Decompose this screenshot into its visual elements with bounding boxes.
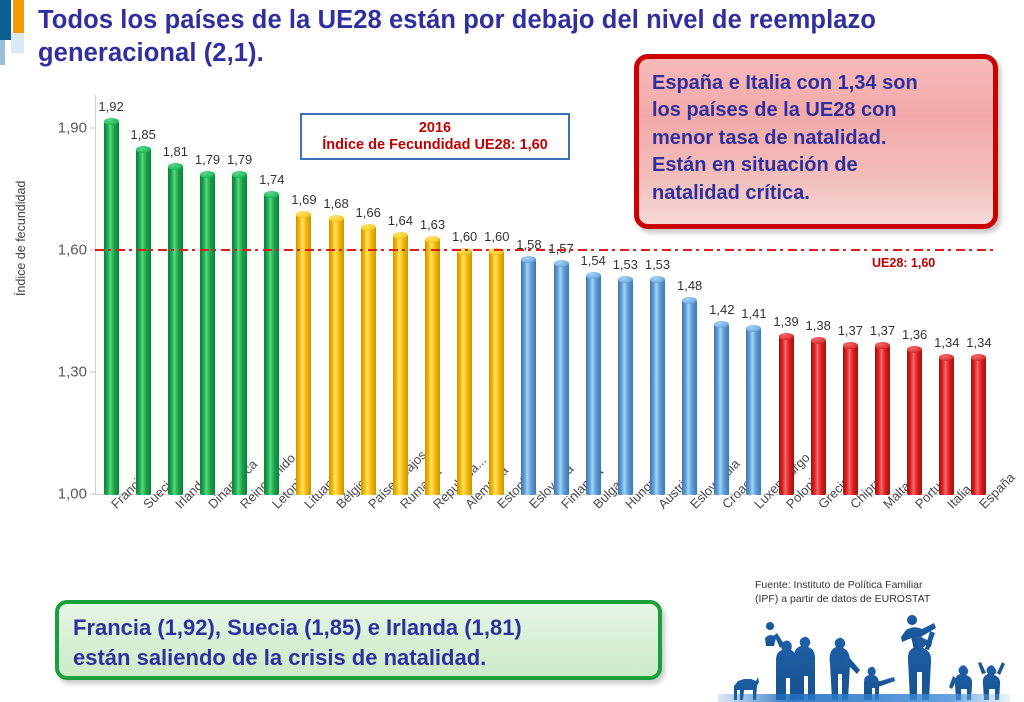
- bar-francia: [104, 121, 119, 495]
- bar-value-label: 1,74: [259, 172, 284, 187]
- y-axis-tick-mark: [90, 128, 95, 129]
- y-axis-tick-label: 1,30: [58, 364, 87, 381]
- y-axis-tick-label: 1,60: [58, 242, 87, 259]
- bar-body: [264, 194, 279, 495]
- bar-b-lgica: [329, 218, 344, 495]
- bar-value-label: 1,38: [806, 318, 831, 333]
- bar-cap: [650, 276, 665, 283]
- bar-reino-unido: [232, 174, 247, 495]
- red-callout-line3: menor tasa de natalidad.: [652, 125, 980, 152]
- bar-grecia: [811, 340, 826, 495]
- year-callout-index: Índice de Fecundidad UE28: 1,60: [322, 137, 548, 154]
- bar-value-label: 1,66: [356, 205, 381, 220]
- source-line2: (IPF) a partir de datos de EUROSTAT: [755, 592, 930, 606]
- bar-estonia: [489, 251, 504, 495]
- red-callout-line1: España e Italia con 1,34 son: [652, 70, 980, 97]
- bar-italia: [939, 357, 954, 495]
- red-callout-line4: Están en situación de: [652, 152, 980, 179]
- bar-cap: [361, 224, 376, 231]
- bar-value-label: 1,60: [484, 229, 509, 244]
- bar-malta: [875, 345, 890, 495]
- y-axis-title: Índice de fecundidad: [14, 181, 28, 296]
- y-axis-tick-mark: [90, 494, 95, 495]
- bar-body: [714, 324, 729, 495]
- bar-suecia: [136, 149, 151, 495]
- bar-value-label: 1,79: [195, 152, 220, 167]
- bar-portugal: [907, 349, 922, 495]
- bar-cap: [168, 163, 183, 170]
- bar-cap: [811, 337, 826, 344]
- red-callout-line2: los países de la UE28 con: [652, 97, 980, 124]
- bar-body: [586, 275, 601, 495]
- y-axis-tick-label: 1,90: [58, 120, 87, 137]
- bar-value-label: 1,85: [131, 127, 156, 142]
- bar-value-label: 1,39: [773, 314, 798, 329]
- bar-value-label: 1,34: [966, 335, 991, 350]
- bar-body: [939, 357, 954, 495]
- green-callout-box: Francia (1,92), Suecia (1,85) e Irlanda …: [55, 600, 662, 680]
- bar-republica: [425, 239, 440, 495]
- y-axis-tick-label: 1,00: [58, 486, 87, 503]
- red-callout-line5: natalidad crítica.: [652, 180, 980, 207]
- bar-cap: [393, 232, 408, 239]
- bar-eslovenia: [521, 259, 536, 495]
- bar-letonia: [264, 194, 279, 495]
- bar-cap: [136, 146, 151, 153]
- bar-body: [875, 345, 890, 495]
- bar-dinamarca: [200, 174, 215, 495]
- bar-value-label: 1,37: [838, 323, 863, 338]
- bar-body: [682, 300, 697, 495]
- bar-body: [971, 357, 986, 495]
- bar-body: [136, 149, 151, 495]
- accent-block-pale: [11, 33, 24, 53]
- bar-cap: [586, 272, 601, 279]
- bar-value-label: 1,63: [420, 217, 445, 232]
- bar-body: [329, 218, 344, 495]
- bar-cap: [714, 321, 729, 328]
- bar-body: [296, 214, 311, 495]
- year-index-callout: 2016 Índice de Fecundidad UE28: 1,60: [300, 113, 570, 160]
- bar-value-label: 1,36: [902, 327, 927, 342]
- bar-polonia: [779, 336, 794, 495]
- bar-body: [232, 174, 247, 495]
- bar-value-label: 1,53: [613, 257, 638, 272]
- bar-value-label: 1,92: [98, 99, 123, 114]
- red-callout-box: España e Italia con 1,34 son los países …: [634, 54, 998, 229]
- bar-cap: [104, 118, 119, 125]
- bar-cap: [521, 256, 536, 263]
- bar-value-label: 1,79: [227, 152, 252, 167]
- bar-body: [650, 279, 665, 495]
- bar-lituania: [296, 214, 311, 495]
- green-callout-line2: están saliendo de la crisis de natalidad…: [73, 643, 644, 673]
- bar-alemania: [457, 251, 472, 495]
- bar-body: [907, 349, 922, 495]
- bar-body: [457, 251, 472, 495]
- bar-value-label: 1,48: [677, 278, 702, 293]
- accent-block-blue: [0, 0, 11, 40]
- slide-canvas: Todos los países de la UE28 están por de…: [0, 0, 1024, 702]
- bar-pa-ses-bajos: [361, 227, 376, 495]
- bar-finlandia: [554, 263, 569, 495]
- bar-body: [168, 166, 183, 495]
- bar-bulgaria: [586, 275, 601, 495]
- bar-value-label: 1,60: [452, 229, 477, 244]
- bar-eslovaquia: [682, 300, 697, 495]
- source-line1: Fuente: Instituto de Política Familiar: [755, 578, 930, 592]
- bar-body: [521, 259, 536, 495]
- accent-block-blue-light: [0, 40, 5, 65]
- bar-body: [554, 263, 569, 495]
- bar-value-label: 1,34: [934, 335, 959, 350]
- reference-line-label: UE28: 1,60: [872, 256, 935, 270]
- bar-croacia: [714, 324, 729, 495]
- bar-cap: [425, 236, 440, 243]
- bar-body: [361, 227, 376, 495]
- bar-body: [393, 235, 408, 495]
- bar-value-label: 1,37: [870, 323, 895, 338]
- bar-value-label: 1,69: [291, 192, 316, 207]
- bar-body: [425, 239, 440, 495]
- bar-austria: [650, 279, 665, 495]
- bar-cap: [746, 325, 761, 332]
- bar-body: [779, 336, 794, 495]
- bar-cap: [200, 171, 215, 178]
- bar-value-label: 1,64: [388, 213, 413, 228]
- bar-value-label: 1,53: [645, 257, 670, 272]
- bar-body: [618, 279, 633, 495]
- bar-cap: [682, 297, 697, 304]
- reference-line-ue28: [95, 249, 995, 251]
- bar-cap: [779, 333, 794, 340]
- bar-cap: [875, 342, 890, 349]
- bar-body: [811, 340, 826, 495]
- bar-cap: [618, 276, 633, 283]
- bar-cap: [907, 346, 922, 353]
- bar-hungria: [618, 279, 633, 495]
- bar-rumania: [393, 235, 408, 495]
- bar-irlanda: [168, 166, 183, 495]
- bar-value-label: 1,81: [163, 144, 188, 159]
- bar-body: [489, 251, 504, 495]
- slide-title-line1: Todos los países de la UE28 están por de…: [38, 4, 1003, 37]
- bar-cap: [296, 211, 311, 218]
- source-note: Fuente: Instituto de Política Familiar (…: [755, 578, 930, 606]
- bar-value-label: 1,68: [323, 196, 348, 211]
- family-silhouette-artwork: [718, 608, 1010, 702]
- green-callout-line1: Francia (1,92), Suecia (1,85) e Irlanda …: [73, 613, 644, 643]
- bar-chipre: [843, 345, 858, 495]
- bar-body: [200, 174, 215, 495]
- bar-cap: [971, 354, 986, 361]
- bar-cap: [554, 260, 569, 267]
- bar-cap: [843, 342, 858, 349]
- year-callout-year: 2016: [419, 120, 451, 137]
- bar-cap: [329, 215, 344, 222]
- bar-value-label: 1,54: [581, 253, 606, 268]
- bar-espa-a: [971, 357, 986, 495]
- bar-cap: [939, 354, 954, 361]
- bar-body: [843, 345, 858, 495]
- bar-body: [746, 328, 761, 495]
- bar-cap: [264, 191, 279, 198]
- bar-cap: [232, 171, 247, 178]
- y-axis-tick-mark: [90, 372, 95, 373]
- bar-value-label: 1,41: [741, 306, 766, 321]
- bar-body: [104, 121, 119, 495]
- bar-value-label: 1,42: [709, 302, 734, 317]
- accent-block-orange: [13, 0, 24, 33]
- bar-luxemburgo: [746, 328, 761, 495]
